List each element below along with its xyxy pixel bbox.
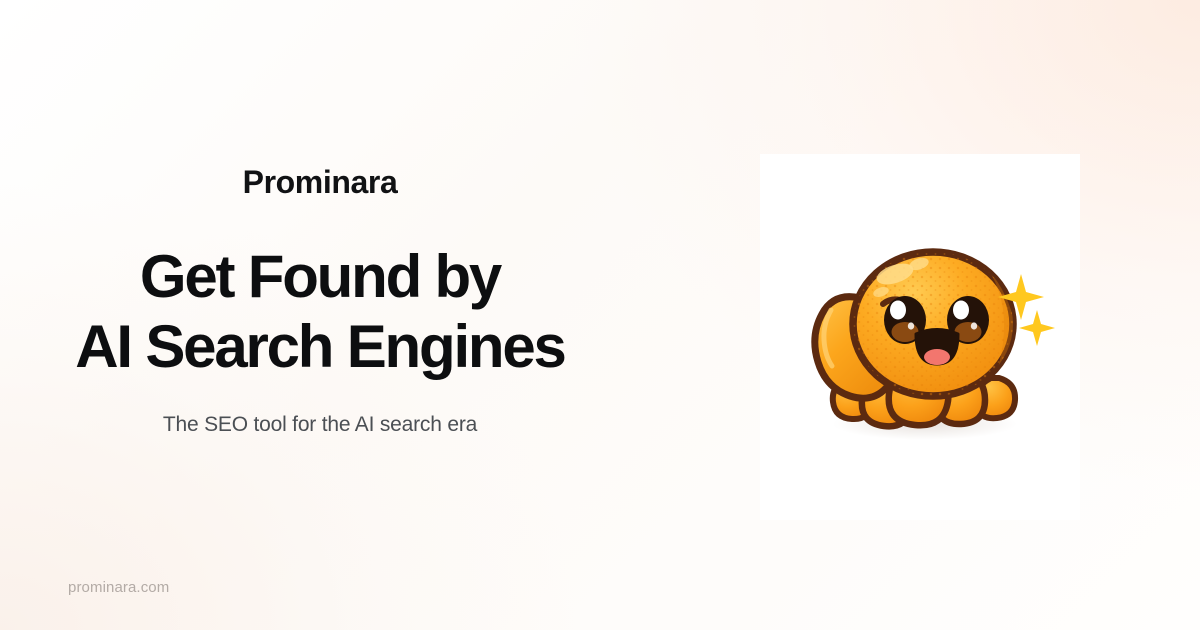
footer-url: prominara.com (68, 579, 169, 596)
headline-line-2: AI Search Engines (75, 312, 564, 382)
sparkle-icon-small (1019, 310, 1055, 346)
brand-name: Prominara (243, 166, 398, 198)
mascot-illustration (785, 212, 1055, 462)
mascot-panel (760, 154, 1080, 520)
text-column: Prominara Get Found by AI Search Engines… (0, 0, 640, 630)
subtitle: The SEO tool for the AI search era (163, 411, 477, 438)
og-card: Prominara Get Found by AI Search Engines… (0, 0, 1200, 630)
octopus-mascot-icon (785, 212, 1055, 462)
mascot-mouth (916, 330, 958, 366)
page-title: Get Found by AI Search Engines (75, 242, 564, 382)
headline-line-1: Get Found by (75, 242, 564, 312)
